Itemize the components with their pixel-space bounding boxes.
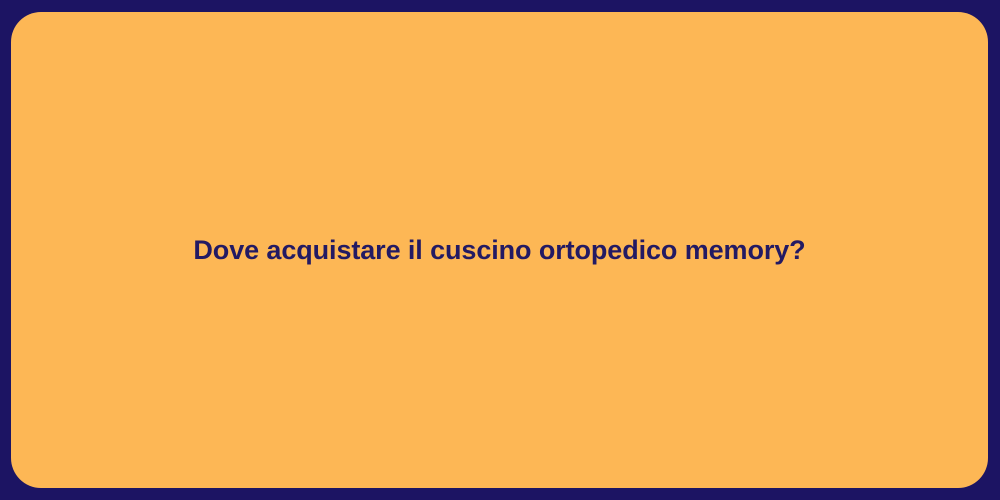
page-frame: Dove acquistare il cuscino ortopedico me… [0, 0, 1000, 500]
page-title: Dove acquistare il cuscino ortopedico me… [153, 234, 845, 266]
content-card: Dove acquistare il cuscino ortopedico me… [11, 12, 988, 488]
